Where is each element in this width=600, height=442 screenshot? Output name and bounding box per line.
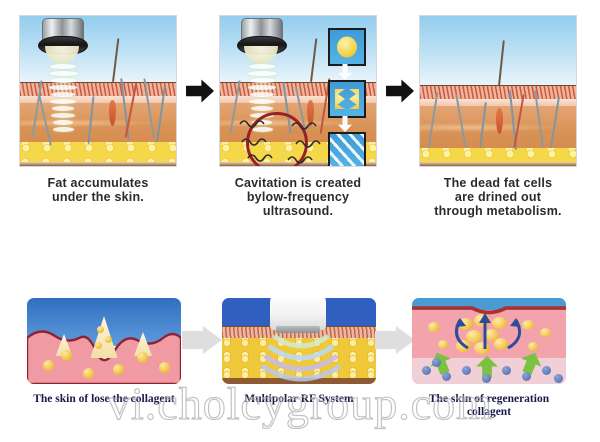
arrow-right-icon — [386, 78, 414, 104]
fat-cell-icon — [105, 336, 112, 343]
panel-skin-regeneration-collagen: The skin of regeneration collagent — [412, 298, 566, 419]
panel-caption: Fat accumulates under the skin. — [20, 176, 176, 204]
panel-multipolar-rf-system: Multipolar RF System — [222, 298, 376, 406]
rf-energy-arcs — [256, 330, 346, 382]
arrow-right-icon — [182, 326, 222, 354]
fat-cell-icon — [61, 350, 72, 361]
fibroblast-icon — [462, 366, 471, 375]
fat-cell-icon — [137, 352, 148, 363]
fibroblast-icon — [522, 372, 531, 381]
arrow-right-icon — [375, 326, 415, 354]
fat-cell-icon — [43, 360, 54, 371]
illustration-collagen-loss — [27, 298, 181, 384]
panel-fat-accumulates: Fat accumulates under the skin. — [20, 16, 176, 204]
fibroblast-icon — [542, 366, 551, 375]
illustration-skin-cross-section-2 — [220, 16, 376, 166]
ultrasound-probe-icon — [35, 18, 89, 72]
panel-caption: Cavitation is created bylow-frequency ul… — [220, 176, 376, 218]
cavitation-squiggles — [238, 112, 328, 166]
illustration-rf-system — [222, 298, 376, 384]
fat-cell-icon — [83, 368, 94, 379]
fat-cell-icon — [528, 342, 538, 351]
fat-cell-icon — [428, 322, 439, 332]
infographic-stage: Fat accumulates under the skin. — [0, 0, 600, 442]
fibroblast-icon — [422, 366, 431, 375]
panel-skin-lose-collagen: The skin of lose the collagent — [27, 298, 181, 406]
fat-cell-icon — [438, 340, 448, 349]
ultrasound-waves — [46, 62, 80, 134]
blue-arrow-icon — [478, 312, 492, 350]
fibroblast-icon — [432, 358, 441, 367]
fibroblast-icon — [482, 374, 491, 383]
illustration-skin-cross-section-3 — [420, 16, 576, 166]
fat-cell-icon — [540, 328, 551, 337]
arrow-right-icon — [186, 78, 214, 104]
panel-caption: The dead fat cells are drined out throug… — [420, 176, 576, 218]
illustration-collagen-regeneration — [412, 298, 566, 384]
muscle-base-layer — [420, 162, 576, 166]
panel-dead-fat-cells-drained: The dead fat cells are drined out throug… — [420, 16, 576, 218]
panel-caption: The skin of regeneration collagent — [412, 393, 566, 419]
ultrasound-probe-icon — [234, 18, 288, 72]
fat-cell-icon — [113, 364, 124, 375]
sky-layer — [420, 16, 576, 85]
fat-cell-intact-icon — [328, 28, 366, 66]
panel-caption: Multipolar RF System — [222, 393, 376, 406]
fat-cell-icon — [97, 326, 104, 333]
fat-cell-icon — [159, 362, 170, 373]
panel-cavitation-created: Cavitation is created bylow-frequency ul… — [220, 16, 376, 218]
panel-caption: The skin of lose the collagent — [27, 393, 181, 406]
muscle-base-layer — [20, 162, 176, 166]
bottom-row: The skin of lose the collagent — [0, 288, 600, 442]
fat-layer-reduced — [420, 148, 576, 163]
fibroblast-icon — [554, 374, 563, 383]
blue-arrow-icon — [448, 316, 474, 350]
illustration-skin-cross-section-1 — [20, 16, 176, 166]
fibroblast-icon — [442, 372, 451, 381]
fibroblast-icon — [502, 366, 511, 375]
fat-cell-bursting-icon — [328, 80, 366, 118]
fat-layer — [20, 142, 176, 163]
top-row: Fat accumulates under the skin. — [0, 0, 600, 240]
fat-cell-icon — [95, 342, 102, 349]
fat-cell-fragments-icon — [328, 132, 366, 166]
blue-arrow-icon — [502, 316, 528, 350]
